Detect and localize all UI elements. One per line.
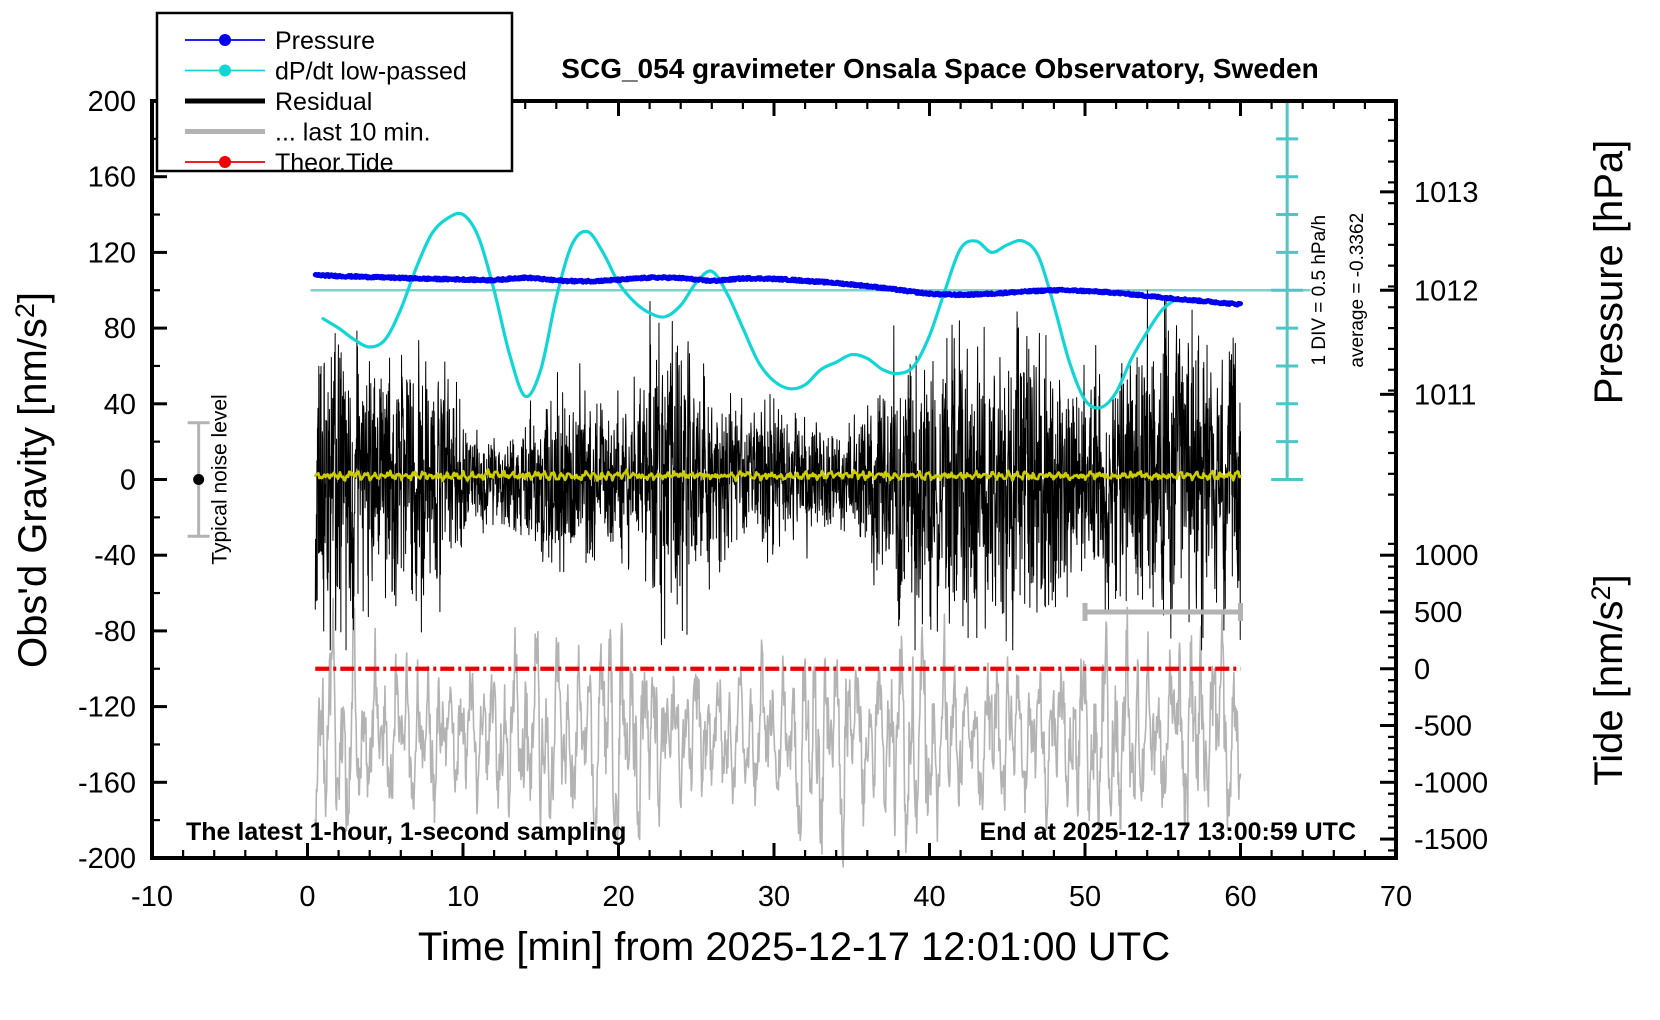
- gravity-axis-title-text: Obs'd Gravity [nm/s2]: [10, 292, 55, 668]
- x-tick-label: 50: [1069, 881, 1101, 913]
- footer-left-annotation: The latest 1-hour, 1-second sampling: [186, 818, 626, 846]
- x-tick-label: 20: [602, 881, 634, 913]
- y-tick-label: 160: [88, 162, 136, 194]
- legend-label-2: Residual: [275, 88, 372, 116]
- noise-level-label: Typical noise level: [209, 394, 232, 564]
- y-tick-label: -160: [78, 767, 136, 799]
- y-tick-label: -120: [78, 692, 136, 724]
- y-tick-label: 200: [88, 86, 136, 118]
- legend-label-0: Pressure: [275, 27, 375, 55]
- y-tick-label: 120: [88, 237, 136, 269]
- legend-marker-0: [219, 34, 231, 46]
- x-tick-label: 40: [913, 881, 945, 913]
- pressure-tick-label: 1013: [1414, 177, 1479, 209]
- plot-title: SCG_054 gravimeter Onsala Space Observat…: [561, 53, 1318, 84]
- x-tick-label: 10: [447, 881, 479, 913]
- scalebar-label: 1 DIV = 0.5 hPa/h: [1309, 215, 1330, 366]
- tide-tick-label: -1000: [1414, 767, 1488, 799]
- tide-axis-title: Tide [nm/s2]: [1586, 574, 1631, 785]
- x-tick-label: 30: [758, 881, 790, 913]
- tide-tick-label: -500: [1414, 711, 1472, 743]
- y-tick-label: 0: [120, 465, 136, 497]
- gravity-axis-title: Obs'd Gravity [nm/s2]: [10, 292, 55, 668]
- x-axis-title: Time [min] from 2025-12-17 12:01:00 UTC: [418, 925, 1170, 969]
- legend-marker-1: [219, 65, 231, 77]
- legend-marker-4: [219, 156, 231, 168]
- pressure-axis-title: Pressure [hPa]: [1587, 140, 1631, 405]
- x-tick-label: 60: [1224, 881, 1256, 913]
- tide-tick-label: -1500: [1414, 824, 1488, 856]
- footer-right-annotation: End at 2025-12-17 13:00:59 UTC: [979, 818, 1356, 846]
- y-tick-label: -200: [78, 843, 136, 875]
- legend-label-3: ... last 10 min.: [275, 119, 431, 147]
- tide-tick-label: 500: [1414, 597, 1462, 629]
- noise-bar-center-dot: [193, 474, 204, 485]
- y-tick-label: -40: [94, 540, 136, 572]
- pressure-tick-label: 1011: [1414, 379, 1476, 411]
- y-tick-label: 80: [104, 313, 136, 345]
- y-tick-label: 40: [104, 389, 136, 421]
- legend-label-1: dP/dt low-passed: [275, 58, 467, 86]
- x-tick-label: 0: [299, 881, 315, 913]
- scalebar-average-label: average = -0.3362: [1347, 213, 1368, 368]
- tide-tick-label: 0: [1414, 654, 1430, 686]
- gravimeter-chart: Typical noise level1 DIV = 0.5 hPa/haver…: [0, 0, 1660, 1020]
- y-tick-label: -80: [94, 616, 136, 648]
- x-tick-label: 70: [1380, 881, 1412, 913]
- x-tick-label: -10: [131, 881, 173, 913]
- legend-label-4: Theor.Tide: [275, 149, 394, 177]
- tide-tick-label: 1000: [1414, 540, 1479, 572]
- pressure-tick-label: 1012: [1414, 275, 1479, 307]
- figure-canvas: Typical noise level1 DIV = 0.5 hPa/haver…: [0, 0, 1660, 1020]
